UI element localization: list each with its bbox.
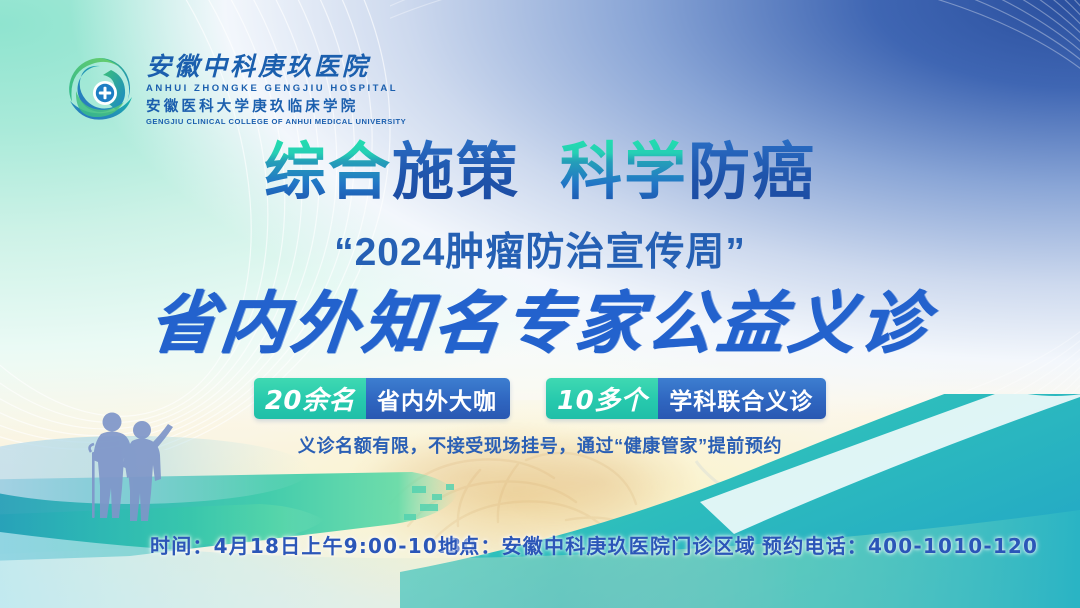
hospital-name-en: ANHUI ZHONGKE GENGJIU HOSPITAL [146,84,406,94]
badge-departments-label: 学科联合义诊 [658,378,826,419]
event-time: 时间：4月18日上午9:00-10:30 [150,536,477,556]
logo-text-block: 安徽中科庚玖医院 ANHUI ZHONGKE GENGJIU HOSPITAL … [146,52,406,126]
headline-accent-2: 科学 [560,138,688,207]
badge-departments-count: 10多个 [546,378,658,419]
headline-rest-2: 防癌 [688,138,816,207]
badge-experts-count: 20余名 [254,378,366,419]
page-title: 综合施策科学防癌 [0,142,1080,204]
event-details-bar: 时间：4月18日上午9:00-10:30 地点：安徽中科庚玖医院门诊区域 预约电… [0,531,1080,561]
badge-departments: 10多个 学科联合义诊 [546,378,826,419]
badge-experts: 20余名 省内外大咖 [254,378,510,419]
college-name-en: GENGJIU CLINICAL COLLEGE OF ANHUI MEDICA… [146,118,406,126]
badge-experts-label: 省内外大咖 [366,378,510,419]
campaign-subtitle: “2024肿瘤防治宣传周” [0,233,1080,272]
hospital-logo-lockup: 安徽中科庚玖医院 ANHUI ZHONGKE GENGJIU HOSPITAL … [64,52,406,126]
highlight-badges: 20余名 省内外大咖 10多个 学科联合义诊 [0,378,1080,419]
event-phone: 预约电话：400-1010-120 [762,536,1038,556]
hospital-name-cn: 安徽中科庚玖医院 [146,54,406,79]
hospital-swirl-cross-logo-icon [64,53,136,125]
event-place: 地点：安徽中科庚玖医院门诊区域 [438,536,756,556]
headline-accent-1: 综合 [264,138,392,207]
promotional-banner: 安徽中科庚玖医院 ANHUI ZHONGKE GENGJIU HOSPITAL … [0,0,1080,608]
event-calligraphy-title: 省内外知名专家公益义诊 [0,289,1080,356]
headline-rest-1: 施策 [392,138,520,207]
registration-note: 义诊名额有限，不接受现场挂号，通过“健康管家”提前预约 [0,437,1080,455]
college-name-cn: 安徽医科大学庚玖临床学院 [146,100,406,115]
